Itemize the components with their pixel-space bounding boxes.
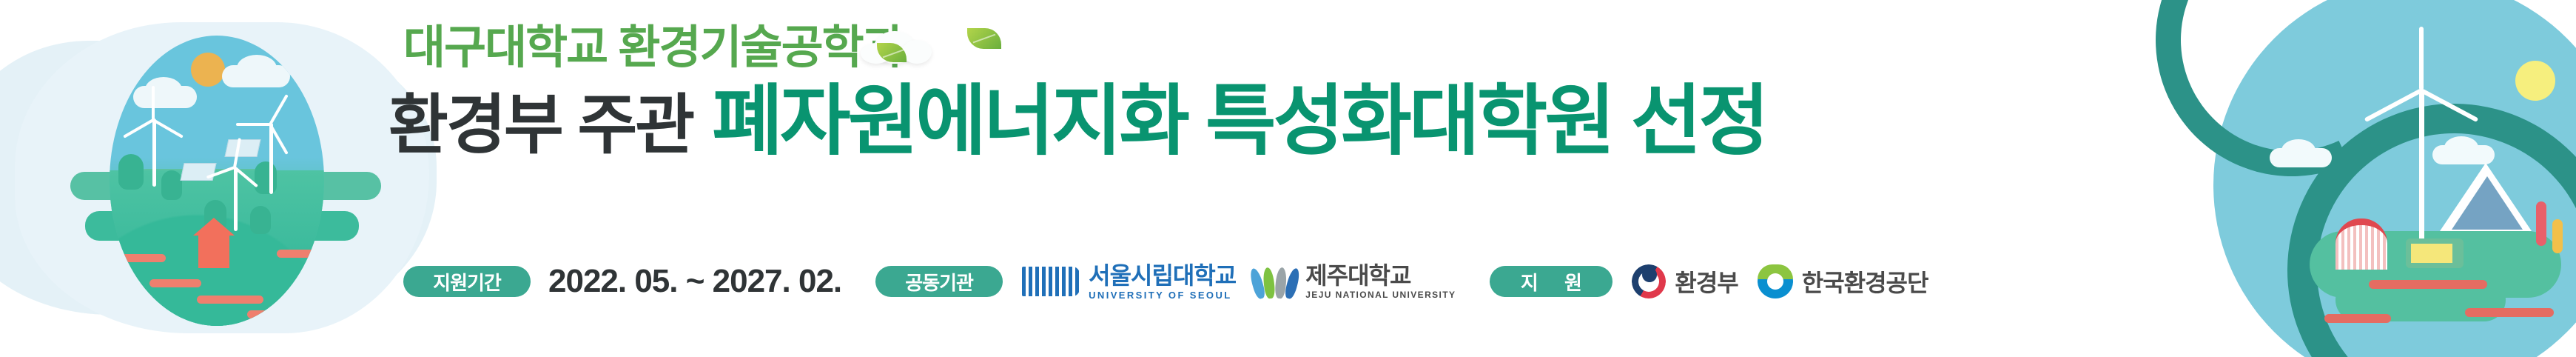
logo-university-of-seoul: 서울시립대학교 UNIVERSITY OF SEOUL xyxy=(1022,264,1236,300)
cloud-icon xyxy=(237,55,277,81)
promotional-banner: 대구대학교 환경기술공학과 환경부 주관폐자원에너지화 특성화대학원 선정 지원… xyxy=(0,0,2576,357)
department-subtitle: 대구대학교 환경기술공학과 xyxy=(403,25,904,71)
soil-strip xyxy=(149,279,201,287)
house-icon xyxy=(198,234,229,268)
sun-icon xyxy=(2515,61,2555,101)
ministry-name: 환경부 xyxy=(1675,264,1738,298)
coral-icon xyxy=(2552,219,2563,253)
soil-strip xyxy=(2465,308,2554,317)
title-main: 폐자원에너지화 특성화대학원 선정 xyxy=(712,79,1766,164)
period-label-badge: 지원기간 xyxy=(403,266,531,297)
left-eco-earth-illustration xyxy=(0,0,459,357)
cloud-icon xyxy=(2281,139,2316,161)
cloud-icon xyxy=(145,77,182,102)
solar-panel-cells xyxy=(2452,176,2523,230)
uos-name-en: UNIVERSITY OF SEOUL xyxy=(1089,290,1236,300)
house-icon xyxy=(2335,218,2387,270)
logo-korea-environment-corporation: 한국환경공단 xyxy=(1758,264,1928,298)
right-recycling-illustration xyxy=(2162,0,2576,357)
soil-strip xyxy=(247,310,296,318)
soil-strip xyxy=(197,296,263,304)
earth-circle-icon xyxy=(110,36,324,326)
coral-icon xyxy=(2536,201,2546,246)
uos-name-kr: 서울시립대학교 xyxy=(1089,264,1236,287)
soil-strip xyxy=(277,250,318,258)
taeguk-government-icon xyxy=(1632,264,1666,298)
logo-jeju-national-university: 제주대학교 JEJU NATIONAL UNIVERSITY xyxy=(1255,264,1456,299)
tree-icon xyxy=(255,161,277,194)
tree-icon xyxy=(250,206,271,234)
logo-ministry-of-environment: 환경부 xyxy=(1632,264,1738,298)
period-value: 2022. 05. ~ 2027. 02. xyxy=(548,263,841,300)
decorative-cloud-icon xyxy=(861,18,942,64)
tree-icon xyxy=(161,170,182,200)
solar-panel-icon xyxy=(224,139,260,157)
leaf-icon xyxy=(967,28,1001,49)
jeju-name-en: JEJU NATIONAL UNIVERSITY xyxy=(1305,290,1456,299)
uos-barcode-mark-icon xyxy=(1022,267,1080,296)
keco-circle-icon xyxy=(1758,264,1793,298)
soil-strip xyxy=(2324,314,2391,323)
soil-strip xyxy=(2369,280,2487,289)
wind-turbine-icon xyxy=(269,123,273,194)
banner-footer: 지원기간 2022. 05. ~ 2027. 02. 공동기관 서울시립대학교 … xyxy=(403,259,1928,304)
wind-turbine-icon xyxy=(152,119,156,187)
title-prefix: 환경부 주관 xyxy=(389,88,693,161)
keco-name: 한국환경공단 xyxy=(1802,264,1928,298)
main-title: 환경부 주관폐자원에너지화 특성화대학원 선정 xyxy=(389,83,1766,160)
support-label-badge: 지 원 xyxy=(1490,266,1612,297)
tree-icon xyxy=(118,154,144,190)
banner-content: 대구대학교 환경기술공학과 환경부 주관폐자원에너지화 특성화대학원 선정 지원… xyxy=(403,0,2194,357)
sun-icon xyxy=(191,53,225,87)
jeju-flame-mark-icon xyxy=(1255,264,1297,298)
battery-icon xyxy=(2406,238,2464,268)
wind-turbine-icon xyxy=(2419,89,2424,252)
solar-panel-icon xyxy=(180,163,216,181)
jeju-name-kr: 제주대학교 xyxy=(1305,264,1456,287)
partners-label-badge: 공동기관 xyxy=(875,266,1003,297)
soil-strip xyxy=(121,254,166,262)
cloud-icon xyxy=(2444,136,2478,159)
